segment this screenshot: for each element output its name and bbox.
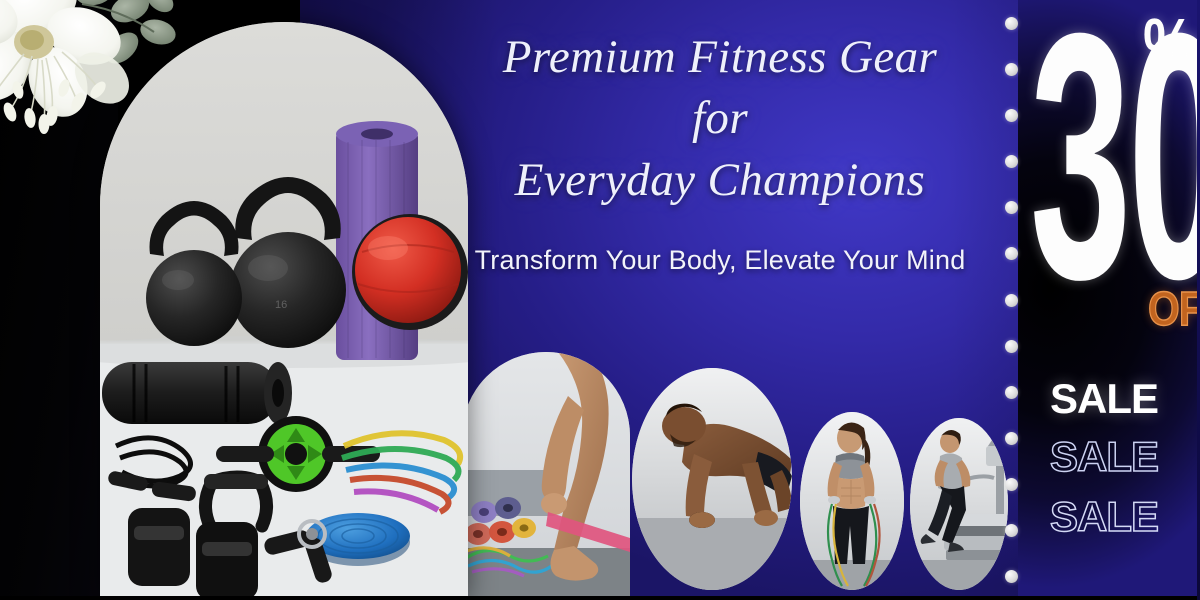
- divider-dot: [1005, 109, 1018, 122]
- percent-sign: %: [1143, 8, 1194, 82]
- bottom-edge: [0, 596, 1200, 600]
- headline-line-1: Premium Fitness Gear: [440, 26, 1000, 88]
- treadmill-runner-photo: [910, 418, 1008, 590]
- pushup-athlete-photo: [632, 368, 792, 590]
- divider-dot: [1005, 386, 1018, 399]
- sale-label-solid: SALE: [1050, 378, 1158, 420]
- divider-dot: [1005, 570, 1018, 583]
- divider-dot: [1005, 17, 1018, 30]
- promotional-banner: 16: [0, 0, 1200, 600]
- divider-dot: [1005, 340, 1018, 353]
- divider-dot: [1005, 294, 1018, 307]
- sale-label-outline-1: SALE: [1050, 436, 1158, 478]
- divider-dot: [1005, 155, 1018, 168]
- divider-dot: [1005, 524, 1018, 537]
- subtitle: Transform Your Body, Elevate Your Mind: [440, 245, 1000, 276]
- off-label: OFF: [1148, 286, 1200, 334]
- resistance-tube-woman-photo: [800, 412, 904, 590]
- resistance-band-stretch-photo: [462, 352, 630, 600]
- sale-panel: 30 % OFF SALE SALE SALE: [1000, 0, 1200, 600]
- headline-line-3: Everyday Champions: [440, 148, 1000, 212]
- sale-label-outline-2: SALE: [1050, 496, 1158, 538]
- fitness-equipment-photo: 16: [100, 22, 468, 600]
- dotted-divider: [1000, 0, 1026, 600]
- divider-dot: [1005, 63, 1018, 76]
- divider-dot: [1005, 432, 1018, 445]
- headline-line-2: for: [440, 88, 1000, 148]
- divider-dot: [1005, 478, 1018, 491]
- svg-text:16: 16: [275, 299, 287, 311]
- divider-dot: [1005, 201, 1018, 214]
- headline: Premium Fitness Gear for Everyday Champi…: [440, 26, 1000, 212]
- divider-dot: [1005, 247, 1018, 260]
